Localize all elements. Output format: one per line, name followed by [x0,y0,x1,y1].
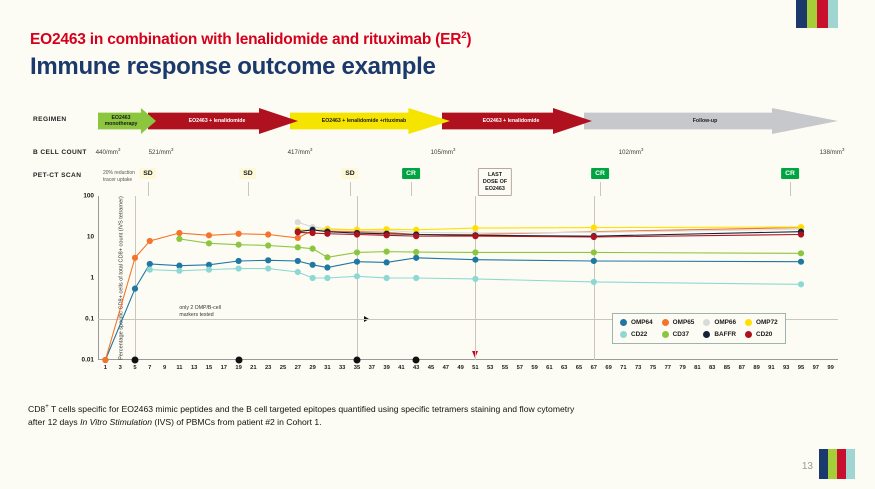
series-point-CD22 [324,275,330,281]
caption-line1: T cells specific for EO2463 mimic peptid… [49,404,575,414]
legend-color-swatch [745,319,752,326]
series-point-CD37 [265,242,271,248]
x-axis-tick: 91 [768,365,774,371]
petct-marker-sd: SD [341,168,358,179]
series-point-OMP66 [295,219,301,225]
regimen-arrow-label: EO2463 + lenalidomide [481,118,554,125]
legend-label: CD20 [756,331,772,338]
legend-item-CD20[interactable]: CD20 [745,331,778,338]
series-point-OMP64 [324,264,330,270]
brand-bar-3 [846,449,855,479]
caption-emphasis: In Vitro Stimulation [80,417,152,427]
legend-item-CD37[interactable]: CD37 [662,331,695,338]
x-axis-tick: 99 [827,365,833,371]
series-point-CD37 [384,249,390,255]
series-point-CD22 [176,268,182,274]
series-point-CD22 [265,265,271,271]
petct-marker-note: 20% reductiontracer uptake [99,168,139,185]
series-point-CD22 [206,267,212,273]
legend-color-swatch [703,331,710,338]
legend-item-OMP65[interactable]: OMP65 [662,319,695,326]
x-axis-tick: 5 [133,365,136,371]
x-axis-tick: 27 [295,365,301,371]
x-axis-tick: 23 [265,365,271,371]
legend-label: OMP72 [756,319,778,326]
series-point-OMP64 [384,259,390,265]
x-axis-tick: 77 [665,365,671,371]
x-axis-tick: 21 [250,365,256,371]
regimen-arrow-1: EO2463 + lenalidomide [148,108,298,134]
timeline-event-dot [132,357,139,364]
x-axis-tick: 63 [561,365,567,371]
caption-line2-end: (IVS) of PBMCs from patient #2 in Cohort… [152,417,322,427]
series-point-OMP64 [132,286,138,292]
x-axis-tick: 95 [798,365,804,371]
regimen-arrow-3: EO2463 + lenalidomide [442,108,592,134]
x-axis-tick: 41 [398,365,404,371]
regimen-row-label: REGIMEN [33,116,67,123]
legend-color-swatch [620,331,627,338]
legend-color-swatch [662,319,669,326]
series-point-CD37 [176,236,182,242]
page-title: EO2463 in combination with lenalidomide … [30,30,471,81]
series-point-OMP65 [295,235,301,241]
series-point-CD22 [413,275,419,281]
x-axis-tick: 89 [753,365,759,371]
x-axis-tick: 3 [119,365,122,371]
bcell-count-value: 138/mm3 [820,147,845,156]
x-axis-tick: 79 [679,365,685,371]
page-heading: Immune response outcome example [30,53,471,81]
caption-line2-start: after 12 days [28,417,80,427]
series-point-CD22 [591,279,597,285]
series-point-OMP64 [295,258,301,264]
x-axis-tick: 61 [546,365,552,371]
timeline-event-dot [354,357,361,364]
x-axis-tick: 7 [148,365,151,371]
series-point-OMP64 [236,258,242,264]
x-axis-tick: 37 [369,365,375,371]
legend-item-CD22[interactable]: CD22 [620,331,653,338]
timeline-event-dot [235,357,242,364]
x-axis-tick: 19 [235,365,241,371]
page-subtitle-close: ) [466,31,471,48]
x-axis-tick: 55 [502,365,508,371]
series-point-CD37 [591,249,597,255]
series-point-CD20 [354,231,360,237]
series-point-CD22 [147,267,153,273]
series-point-OMP64 [265,257,271,263]
petct-marker-cr: CR [402,168,420,179]
series-point-CD37 [236,242,242,248]
series-point-CD20 [591,234,597,240]
x-axis-tick: 49 [457,365,463,371]
bcell-count-row-label: B CELL COUNT [33,149,87,156]
y-axis-tick: 0.1 [85,316,94,323]
x-axis-tick: 13 [191,365,197,371]
slide-caption: CD8+ T cells specific for EO2463 mimic p… [28,403,788,430]
series-point-OMP65 [236,231,242,237]
petct-marker-sd: SD [139,168,156,179]
legend-color-swatch [703,319,710,326]
x-axis-tick: 83 [709,365,715,371]
series-point-OMP65 [265,231,271,237]
page-subtitle-text: EO2463 in combination with lenalidomide … [30,31,461,48]
series-point-CD22 [384,275,390,281]
x-axis-tick: 31 [324,365,330,371]
regimen-timeline: EO2463 monotherapyEO2463 + lenalidomideE… [98,108,838,134]
x-axis-tick: 11 [176,365,182,371]
x-axis-tick: 9 [163,365,166,371]
x-axis-tick: 51 [472,365,478,371]
x-axis-tick: 15 [206,365,212,371]
series-point-OMP64 [413,255,419,261]
legend-item-OMP66[interactable]: OMP66 [703,319,736,326]
brand-bar-2 [837,449,846,479]
legend-label: OMP65 [673,319,695,326]
series-point-OMP64 [798,259,804,265]
petct-scan-row-label: PET-CT SCAN [33,172,81,179]
series-point-CD20 [310,230,316,236]
series-point-CD20 [384,232,390,238]
regimen-arrow-2: EO2463 + lenalidomide +rituximab [290,108,450,134]
y-axis-tick: 1 [90,275,94,282]
regimen-arrow-label: EO2463 + lenalidomide [187,118,260,125]
x-axis-tick: 53 [487,365,493,371]
y-axis-tick: 0.01 [82,357,94,364]
caption-cd8: CD8 [28,404,45,414]
brand-logo-bottom [819,449,855,479]
x-axis-tick: 85 [724,365,730,371]
brand-bar-3 [828,0,839,28]
series-point-CD20 [413,233,419,239]
x-axis-tick: 57 [517,365,523,371]
legend-label: OMP66 [714,319,736,326]
series-point-OMP64 [472,257,478,263]
legend-item-BAFFR[interactable]: BAFFR [703,331,736,338]
x-axis-tick: 59 [531,365,537,371]
brand-bar-2 [817,0,828,28]
timeline-event-dot [413,357,420,364]
series-point-OMP65 [132,255,138,261]
series-point-OMP64 [354,259,360,265]
x-axis-tick: 35 [354,365,360,371]
series-point-CD22 [472,276,478,282]
bcell-count-value: 417/mm3 [288,147,313,156]
petct-marker-stem [411,182,412,196]
petct-marker-stem [248,182,249,196]
x-axis-tick: 43 [413,365,419,371]
regimen-arrow-label: Follow-up [691,118,732,125]
x-axis-tick: 71 [620,365,626,371]
x-axis-tick: 33 [339,365,345,371]
y-axis-tick: 100 [83,193,94,200]
regimen-arrow-0: EO2463 monotherapy [98,108,156,134]
petct-marker-lastdose: LASTDOSE OFEO2463 [478,168,512,196]
x-axis-tick: 93 [783,365,789,371]
series-line-CD37 [179,239,801,257]
petct-marker-cr: CR [781,168,799,179]
x-axis-tick: 45 [428,365,434,371]
series-point-CD20 [798,231,804,237]
series-point-OMP65 [206,232,212,238]
regimen-arrow-4: Follow-up [584,108,838,134]
series-point-CD37 [413,249,419,255]
series-point-OMP64 [147,261,153,267]
x-axis-tick: 81 [694,365,700,371]
series-point-CD37 [472,249,478,255]
series-point-CD20 [295,229,301,235]
brand-bar-1 [807,0,818,28]
petct-marker-sd: SD [239,168,256,179]
bcell-count-value: 105/mm3 [431,147,456,156]
page-number: 13 [802,461,813,472]
series-point-OMP65 [176,230,182,236]
legend-label: OMP64 [631,319,653,326]
series-point-CD20 [472,233,478,239]
y-axis-tick: 10 [87,234,94,241]
legend-label: CD37 [673,331,689,338]
series-point-CD37 [798,250,804,256]
petct-marker-stem [600,182,601,196]
x-axis-tick: 75 [650,365,656,371]
x-axis-tick: 29 [309,365,315,371]
petct-marker-cr: CR [591,168,609,179]
series-point-OMP65 [102,357,108,363]
regimen-arrow-label: EO2463 monotherapy [98,115,156,128]
x-axis-tick: 1 [104,365,107,371]
bcell-count-value: 521/mm3 [149,147,174,156]
series-point-CD22 [798,281,804,287]
x-axis-tick: 25 [280,365,286,371]
series-point-CD22 [354,273,360,279]
bcell-count-value: 102/mm3 [619,147,644,156]
petct-marker-stem [350,182,351,196]
petct-marker-stem [790,182,791,196]
series-point-CD20 [324,231,330,237]
brand-bar-0 [819,449,828,479]
bcell-count-value: 440/mm3 [96,147,121,156]
x-axis-tick: 97 [813,365,819,371]
brand-bar-0 [796,0,807,28]
x-axis-tick: 73 [635,365,641,371]
series-point-CD37 [310,246,316,252]
petct-marker-stem [148,182,149,196]
x-axis-tick: 39 [383,365,389,371]
series-point-OMP72 [472,225,478,231]
legend-item-OMP72[interactable]: OMP72 [745,319,778,326]
legend-color-swatch [662,331,669,338]
series-point-CD37 [206,240,212,246]
page-subtitle: EO2463 in combination with lenalidomide … [30,30,471,49]
x-axis-tick: 47 [443,365,449,371]
x-axis-tick: 65 [576,365,582,371]
chart-legend: OMP64OMP65OMP66OMP72CD22CD37BAFFRCD20 [612,313,786,344]
x-axis-tick: 87 [739,365,745,371]
series-point-CD22 [236,265,242,271]
x-axis-tick: 67 [591,365,597,371]
x-axis-tick: 17 [221,365,227,371]
series-point-CD22 [310,275,316,281]
regimen-arrow-label: EO2463 + lenalidomide +rituximab [320,118,420,125]
series-line-OMP64 [105,258,801,360]
brand-logo-top [796,0,838,28]
legend-color-swatch [620,319,627,326]
series-point-OMP65 [147,238,153,244]
series-point-CD22 [295,269,301,275]
legend-color-swatch [745,331,752,338]
series-point-OMP64 [310,262,316,268]
series-point-CD37 [324,254,330,260]
brand-bar-1 [828,449,837,479]
legend-label: CD22 [631,331,647,338]
series-point-CD37 [295,244,301,250]
series-point-CD37 [354,249,360,255]
legend-label: BAFFR [714,331,736,338]
legend-item-OMP64[interactable]: OMP64 [620,319,653,326]
x-axis-tick: 69 [605,365,611,371]
series-point-OMP72 [591,224,597,230]
series-point-OMP64 [591,258,597,264]
